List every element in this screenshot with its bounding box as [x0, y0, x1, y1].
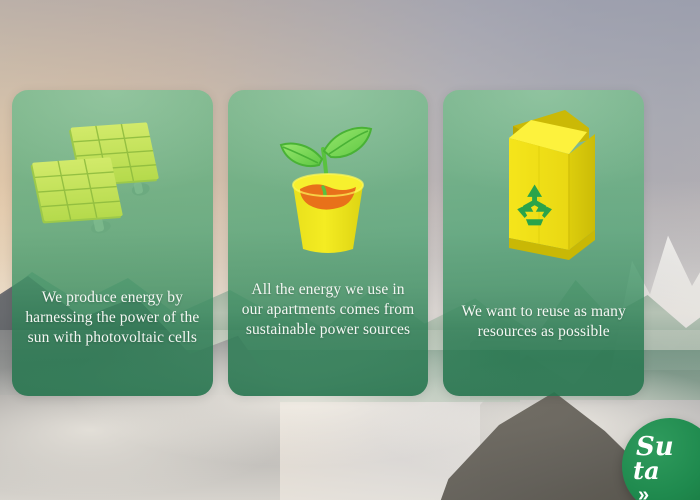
solar-panel-icon — [12, 90, 213, 280]
feature-card-text: We produce energy by harnessing the powe… — [12, 288, 213, 363]
feature-card-sustainable-power[interactable]: All the energy we use in our apartments … — [228, 90, 429, 396]
feature-card-row: We produce energy by harnessing the powe… — [12, 90, 644, 396]
feature-card-reuse-resources[interactable]: We want to reuse as many resources as po… — [443, 90, 644, 396]
screenshot-root: We produce energy by harnessing the powe… — [0, 0, 700, 500]
recycling-bag-icon — [443, 90, 644, 280]
feature-card-solar-energy[interactable]: We produce energy by harnessing the powe… — [12, 90, 213, 396]
feature-card-text: All the energy we use in our apartments … — [228, 280, 429, 355]
badge-line-2: ta — [633, 456, 660, 485]
feature-card-text: We want to reuse as many resources as po… — [443, 302, 644, 358]
potted-sprout-icon — [228, 90, 429, 280]
chevron-right-icon: » — [638, 484, 646, 500]
